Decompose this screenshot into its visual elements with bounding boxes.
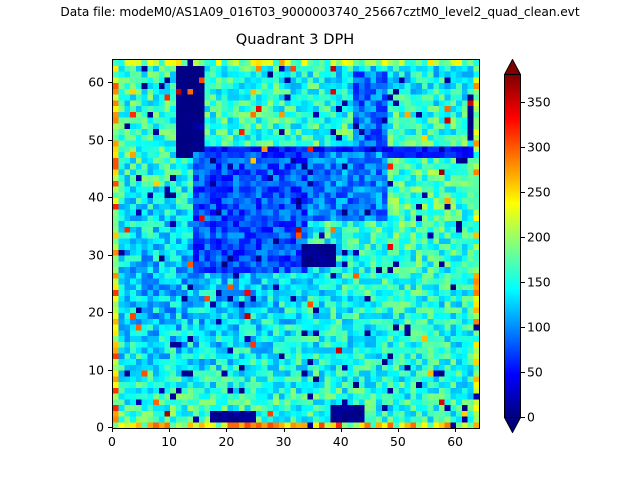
- colorbar-tick-mark: [521, 147, 525, 148]
- x-tick-mark: [169, 428, 170, 432]
- x-tick-label: 10: [161, 434, 177, 449]
- x-tick-label: 0: [108, 434, 116, 449]
- y-tick-mark: [108, 427, 112, 428]
- x-tick-label: 20: [218, 434, 234, 449]
- y-tick-mark: [108, 197, 112, 198]
- heatmap-axes[interactable]: [112, 59, 480, 429]
- colorbar-under-arrow-icon: [504, 417, 521, 433]
- figure-canvas: Data file: modeM0/AS1A09_016T03_90000037…: [0, 0, 640, 480]
- x-tick-label: 30: [276, 434, 292, 449]
- y-tick-label: 30: [60, 247, 104, 262]
- colorbar-gradient-body[interactable]: [504, 75, 521, 417]
- x-tick-label: 60: [447, 434, 463, 449]
- y-tick-label: 10: [60, 362, 104, 377]
- colorbar-tick-label: 200: [527, 230, 551, 245]
- data-file-suptitle: Data file: modeM0/AS1A09_016T03_90000037…: [0, 5, 640, 19]
- y-tick-mark: [108, 82, 112, 83]
- colorbar-tick-label: 250: [527, 185, 551, 200]
- colorbar-tick-mark: [521, 372, 525, 373]
- x-tick-mark: [112, 428, 113, 432]
- colorbar-tick-label: 0: [527, 410, 535, 425]
- page-title: Quadrant 3 DPH: [112, 31, 478, 48]
- colorbar-tick-mark: [521, 282, 525, 283]
- x-tick-mark: [284, 428, 285, 432]
- x-tick-label: 40: [333, 434, 349, 449]
- colorbar-tick-label: 150: [527, 275, 551, 290]
- colorbar-tick-mark: [521, 417, 525, 418]
- y-tick-label: 40: [60, 190, 104, 205]
- x-tick-mark: [455, 428, 456, 432]
- colorbar-tick-mark: [521, 102, 525, 103]
- x-tick-mark: [398, 428, 399, 432]
- colorbar-tick-label: 100: [527, 320, 551, 335]
- colorbar-tick-label: 350: [527, 95, 551, 110]
- y-tick-label: 60: [60, 75, 104, 90]
- colorbar-tick-mark: [521, 192, 525, 193]
- y-tick-label: 0: [60, 420, 104, 435]
- colorbar-over-arrow-icon: [504, 59, 521, 75]
- colorbar-tick-mark: [521, 327, 525, 328]
- y-tick-mark: [108, 255, 112, 256]
- y-tick-mark: [108, 370, 112, 371]
- y-tick-mark: [108, 140, 112, 141]
- y-tick-label: 20: [60, 305, 104, 320]
- colorbar-gradient: [505, 75, 520, 417]
- colorbar-tick-label: 50: [527, 365, 543, 380]
- x-tick-label: 50: [390, 434, 406, 449]
- x-tick-mark: [341, 428, 342, 432]
- x-tick-mark: [226, 428, 227, 432]
- colorbar[interactable]: 050100150200250300350: [504, 59, 521, 433]
- colorbar-tick-mark: [521, 237, 525, 238]
- y-tick-mark: [108, 312, 112, 313]
- heatmap-image[interactable]: [113, 60, 479, 428]
- colorbar-tick-label: 300: [527, 140, 551, 155]
- y-tick-label: 50: [60, 132, 104, 147]
